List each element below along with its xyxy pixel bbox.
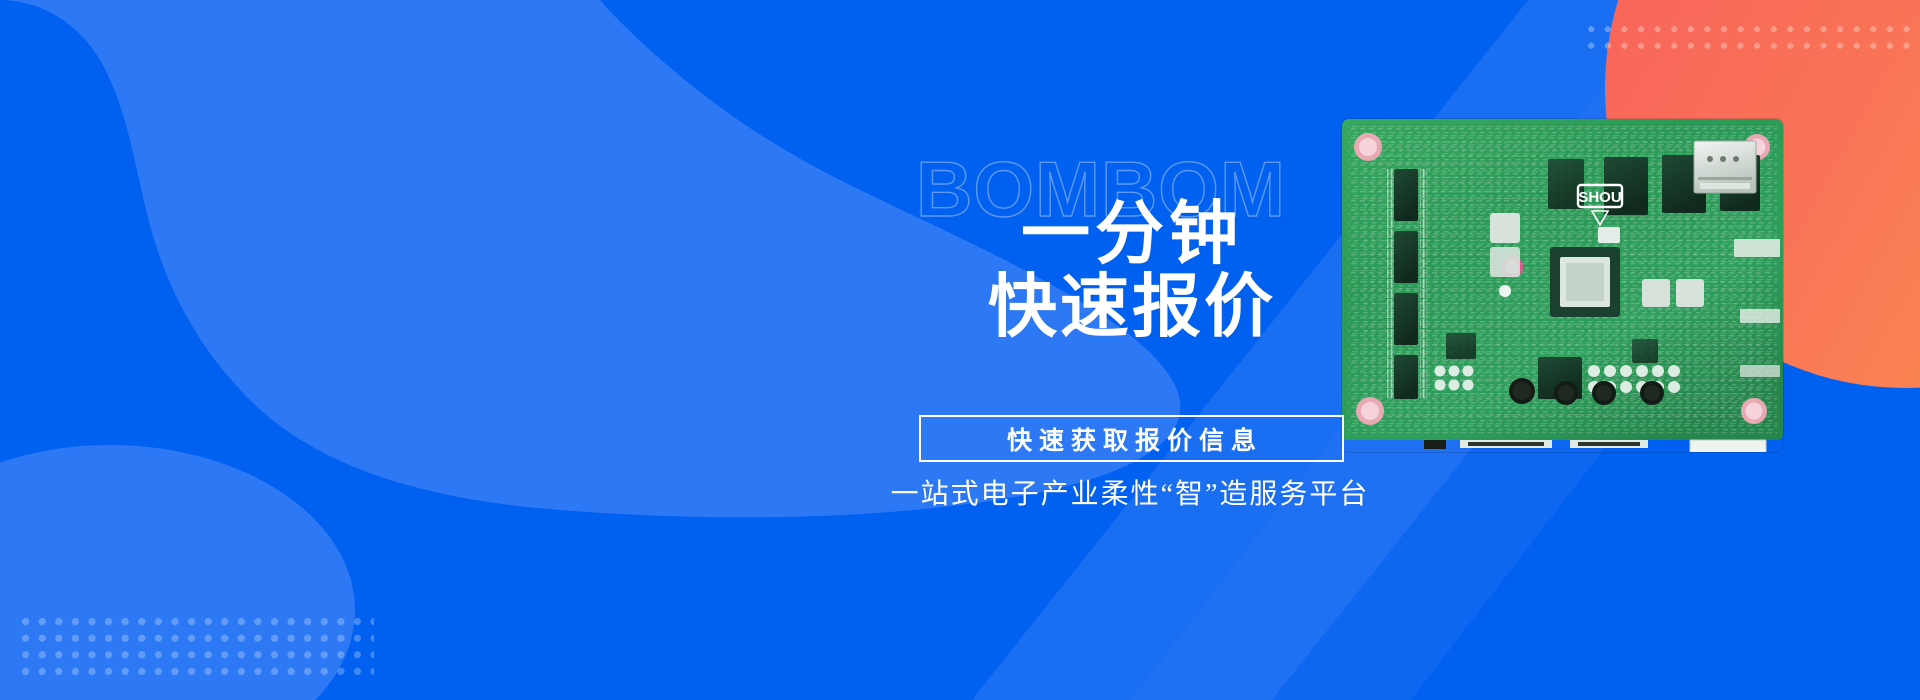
bottom-connectors	[1424, 440, 1766, 452]
headline: 一分钟 快速报价	[922, 197, 1342, 343]
headline-line-2: 快速报价	[922, 270, 1342, 343]
subtitle: 一站式电子产业柔性“智”造服务平台	[780, 472, 1480, 512]
promo-banner: SHOU BOMBOM 一分钟 快速报价 快速获取报价信息 一站式电子产业柔性“…	[0, 0, 1920, 700]
main-processor	[1550, 247, 1620, 317]
card-slot	[1694, 141, 1756, 193]
headline-line-1: 一分钟	[922, 197, 1342, 270]
get-quote-button[interactable]: 快速获取报价信息	[919, 415, 1344, 462]
pcb-product-image: SHOU	[1342, 119, 1783, 452]
dot-grid-bottom-left	[22, 618, 374, 682]
dot-grid-top-right	[1588, 26, 1920, 56]
svg-text:SHOU: SHOU	[1578, 189, 1621, 206]
